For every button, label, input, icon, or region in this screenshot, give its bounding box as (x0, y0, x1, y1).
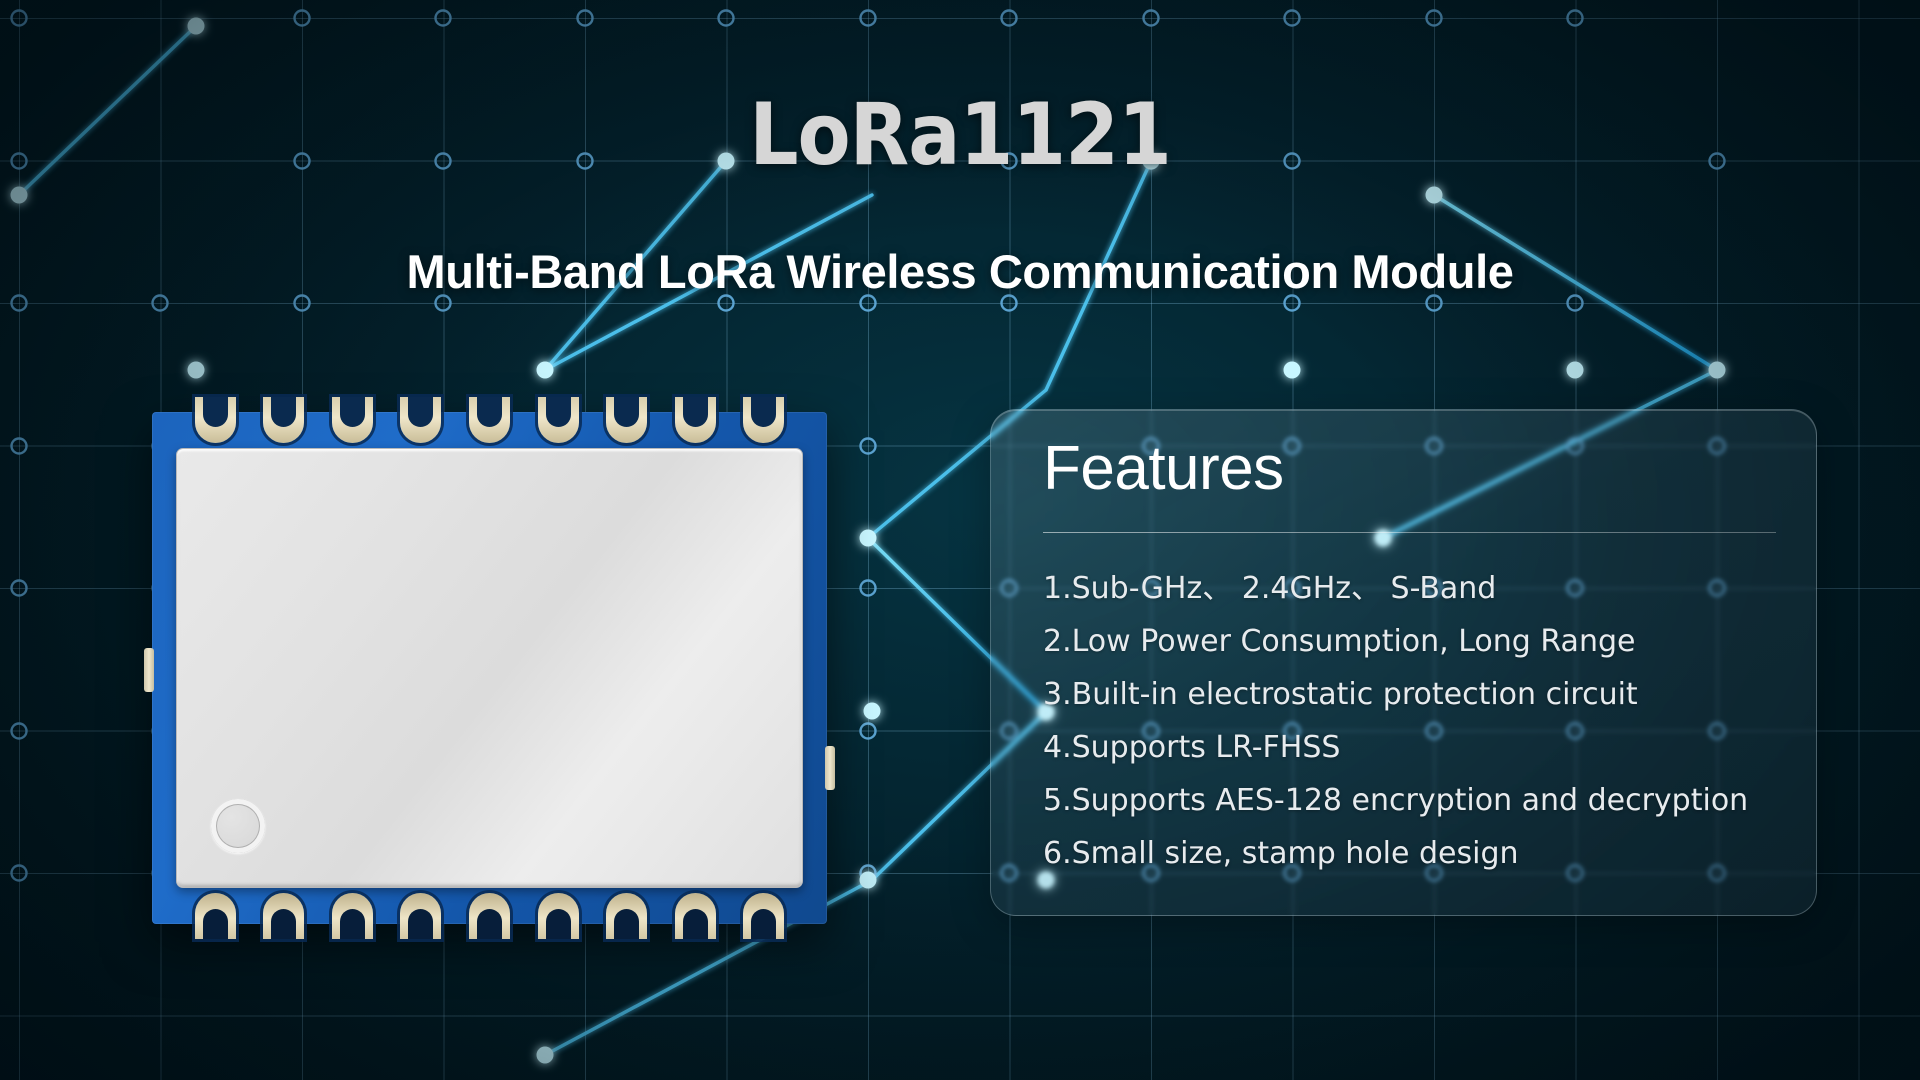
stamp-hole (260, 891, 307, 925)
pin1-marker-ring (211, 799, 265, 853)
feature-item-6: 6.Small size, stamp hole design (1043, 827, 1786, 880)
grid-node (1285, 11, 1300, 26)
glow-node (188, 362, 205, 379)
side-pad-left (144, 648, 154, 692)
stamp-hole (260, 411, 307, 445)
stamp-hole (740, 411, 787, 445)
features-divider (1043, 532, 1776, 533)
grid-node (12, 439, 27, 454)
stamp-hole (672, 891, 719, 925)
grid-node (295, 296, 310, 311)
feature-item-5: 5.Supports AES-128 encryption and decryp… (1043, 774, 1786, 827)
grid-node (1568, 296, 1583, 311)
grid-node (12, 11, 27, 26)
feature-item-4: 4.Supports LR-FHSS (1043, 721, 1786, 774)
stamp-hole (603, 891, 650, 925)
features-heading: Features (1043, 438, 1284, 500)
stamp-hole (672, 411, 719, 445)
stamp-hole (192, 891, 239, 925)
stamp-hole (535, 891, 582, 925)
grid-node (719, 11, 734, 26)
features-list: 1.Sub-GHz、 2.4GHz、 S-Band2.Low Power Con… (1043, 562, 1786, 880)
grid-node (12, 581, 27, 596)
glow-node (1567, 362, 1584, 379)
stamp-hole (466, 891, 513, 925)
stamp-hole (466, 411, 513, 445)
stamp-hole (397, 411, 444, 445)
grid-node (1144, 11, 1159, 26)
stamp-hole (397, 891, 444, 925)
grid-node (436, 11, 451, 26)
feature-item-1: 1.Sub-GHz、 2.4GHz、 S-Band (1043, 562, 1786, 615)
features-panel: Features 1.Sub-GHz、 2.4GHz、 S-Band2.Low … (990, 409, 1817, 916)
glow-node (188, 18, 205, 35)
grid-node (12, 724, 27, 739)
glow-node (11, 187, 28, 204)
stamp-hole (192, 411, 239, 445)
grid-node (12, 296, 27, 311)
grid-node (1002, 11, 1017, 26)
grid-node (861, 11, 876, 26)
glow-node (537, 362, 554, 379)
grid-node (1568, 11, 1583, 26)
grid-node (295, 11, 310, 26)
glow-node (537, 1047, 554, 1064)
grid-node (1427, 11, 1442, 26)
grid-node (578, 11, 593, 26)
page-subtitle: Multi-Band LoRa Wireless Communication M… (0, 248, 1920, 295)
product-banner: LoRa1121 Multi-Band LoRa Wireless Commun… (0, 0, 1920, 1080)
grid-node (12, 866, 27, 881)
stamp-hole (329, 411, 376, 445)
stamp-hole (535, 411, 582, 445)
feature-item-3: 3.Built-in electrostatic protection circ… (1043, 668, 1786, 721)
glow-node (1426, 187, 1443, 204)
glow-node (860, 530, 877, 547)
grid-node (861, 581, 876, 596)
stamp-hole (740, 891, 787, 925)
product-module-image (152, 412, 827, 924)
feature-item-2: 2.Low Power Consumption, Long Range (1043, 615, 1786, 668)
glow-node (1709, 362, 1726, 379)
page-title: LoRa1121 (0, 92, 1920, 178)
stamp-holes-top (152, 411, 827, 447)
grid-node (153, 296, 168, 311)
pcb-board (152, 412, 827, 924)
rf-shield-can (176, 448, 803, 888)
side-pad-right (825, 746, 835, 790)
stamp-holes-bottom (152, 889, 827, 925)
grid-node (861, 724, 876, 739)
grid-node (861, 439, 876, 454)
stamp-hole (329, 891, 376, 925)
glow-node (1284, 362, 1301, 379)
stamp-hole (603, 411, 650, 445)
glow-node (860, 872, 877, 889)
glow-node (864, 703, 881, 720)
